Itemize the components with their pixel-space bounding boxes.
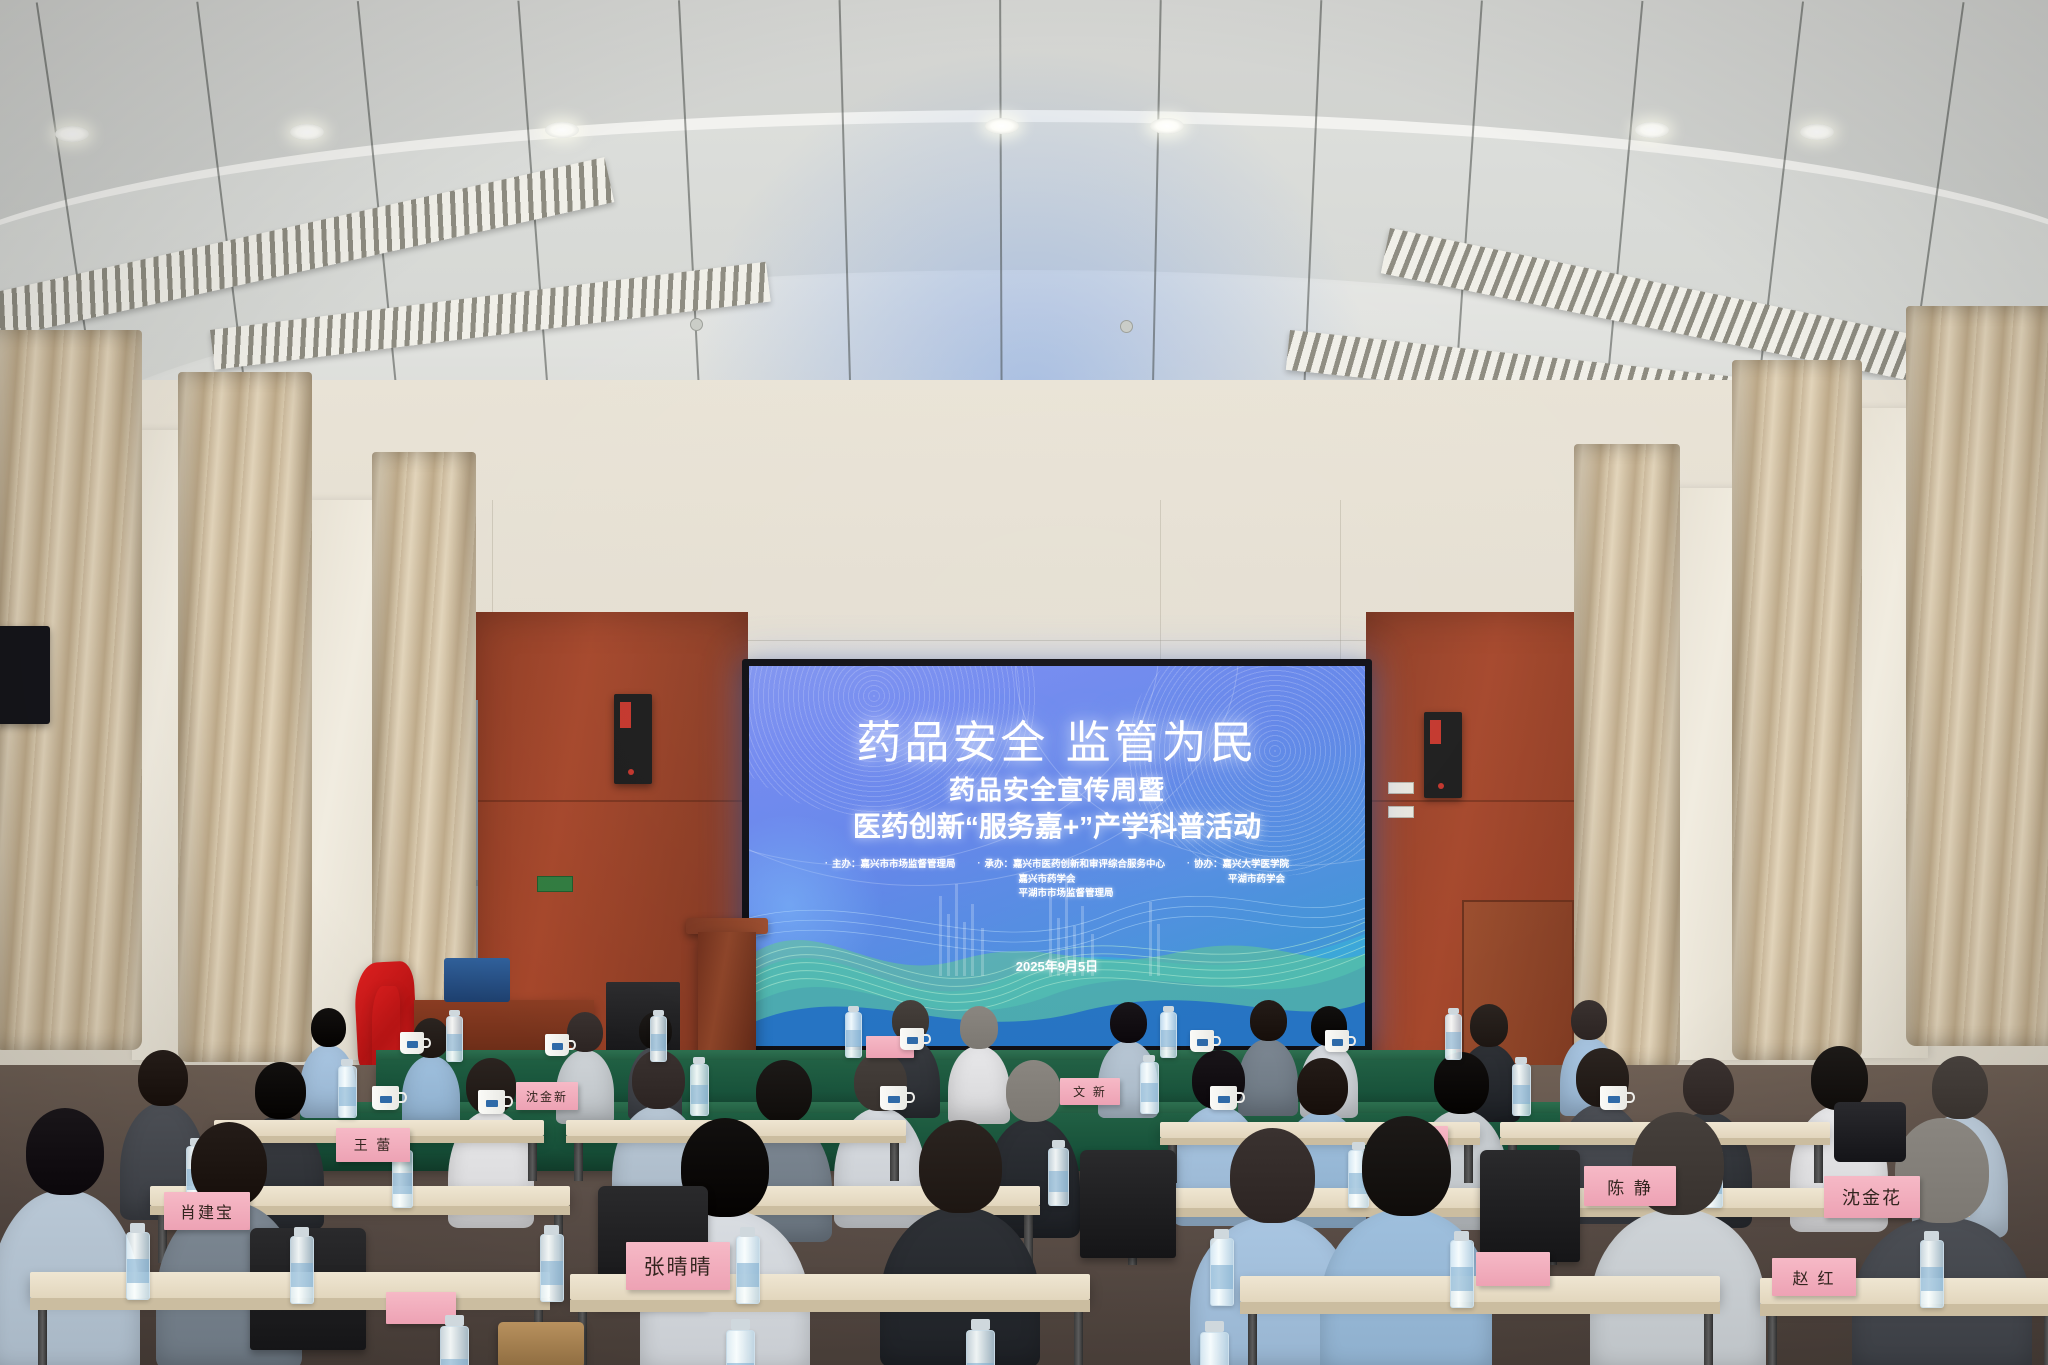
bottle-cap bbox=[445, 1315, 464, 1326]
mug-logo-icon bbox=[1332, 1039, 1343, 1046]
person-head bbox=[1362, 1116, 1451, 1216]
wood-seam-left bbox=[470, 800, 748, 802]
mug-handle bbox=[1213, 1036, 1221, 1046]
bottle-cap bbox=[1163, 1006, 1174, 1012]
mug-logo-icon bbox=[1608, 1096, 1620, 1103]
curtain-right-2 bbox=[1732, 360, 1862, 1060]
bottle-label bbox=[691, 1085, 708, 1104]
bottle-label bbox=[1211, 1265, 1233, 1289]
water-bottle bbox=[726, 1330, 755, 1365]
bottle-cap bbox=[693, 1057, 705, 1064]
person-head bbox=[1683, 1058, 1734, 1115]
organizer-bullet-icon: · bbox=[825, 858, 828, 902]
wall-monitor-left bbox=[0, 626, 50, 724]
name-card-text: 沈金新 bbox=[526, 1088, 568, 1105]
conference-chair bbox=[1080, 1150, 1176, 1258]
bottle-cap bbox=[544, 1225, 559, 1235]
bottle-cap bbox=[1052, 1140, 1065, 1148]
organizer-group-0: ·主办：嘉兴市市场监督管理局 bbox=[825, 858, 956, 902]
bottle-cap bbox=[653, 1010, 664, 1016]
handbag bbox=[498, 1322, 584, 1365]
bottle-label bbox=[441, 1359, 468, 1365]
wall-switch-plate-2 bbox=[1388, 782, 1414, 794]
person-head bbox=[1811, 1046, 1868, 1110]
screen-title: 药品安全 监管为民 bbox=[749, 706, 1365, 771]
person-head bbox=[1110, 1002, 1147, 1043]
bottle-label bbox=[127, 1259, 149, 1283]
organizer-bullet-icon: · bbox=[977, 858, 980, 902]
screen-organizers: ·主办：嘉兴市市场监督管理局·承办：嘉兴市医药创新和审评综合服务中心嘉兴市药学会… bbox=[761, 858, 1353, 902]
table-name-card: 沈金新 bbox=[516, 1082, 578, 1110]
bottle-cap bbox=[1924, 1231, 1939, 1241]
bottle-cap bbox=[1515, 1057, 1527, 1064]
sprinkler-head-icon bbox=[690, 318, 703, 331]
bottle-label bbox=[447, 1034, 462, 1051]
control-desk-monitor bbox=[444, 958, 510, 1002]
table-name-card: 王 蕾 bbox=[336, 1128, 410, 1162]
person-head bbox=[1571, 1000, 1607, 1040]
person-head bbox=[756, 1060, 812, 1123]
bottle-label bbox=[1049, 1171, 1068, 1192]
name-card-text: 肖建宝 bbox=[180, 1199, 234, 1223]
person-head bbox=[919, 1120, 1002, 1213]
organizer-line: 主办：嘉兴市市场监督管理局 bbox=[832, 858, 956, 873]
mug-logo-icon bbox=[1197, 1039, 1208, 1046]
name-card-text: 沈金花 bbox=[1842, 1184, 1902, 1210]
bottle-label bbox=[291, 1263, 313, 1287]
person-head bbox=[26, 1108, 104, 1195]
organizer-line: 协办：嘉兴大学医学院 bbox=[1194, 858, 1289, 873]
bottle-cap bbox=[449, 1010, 460, 1016]
audience-person bbox=[0, 1108, 140, 1365]
table-name-card: 赵 红 bbox=[1772, 1258, 1856, 1296]
bottle-label bbox=[1451, 1267, 1473, 1291]
ceiling-downlight bbox=[290, 124, 324, 140]
mug-handle bbox=[923, 1034, 931, 1044]
bottle-cap bbox=[341, 1059, 353, 1066]
mug-handle bbox=[1626, 1092, 1635, 1103]
person-head bbox=[1932, 1056, 1988, 1119]
bottle-label bbox=[339, 1087, 356, 1106]
curtain-right-1 bbox=[1906, 306, 2048, 1046]
bottle-cap bbox=[294, 1227, 309, 1237]
bottle-cap bbox=[1214, 1229, 1229, 1239]
person-head bbox=[1434, 1052, 1489, 1114]
bottle-cap bbox=[1205, 1321, 1224, 1332]
person-head bbox=[960, 1006, 998, 1049]
led-screen[interactable]: 药品安全 监管为民 药品安全宣传周暨 医药创新“服务嘉+”产学科普活动 ·主办：… bbox=[742, 659, 1372, 1053]
person-head bbox=[311, 1008, 346, 1047]
curtain-left-2 bbox=[178, 372, 312, 1062]
speaker-right bbox=[1424, 712, 1462, 798]
bottle-label bbox=[846, 1030, 861, 1047]
organizer-lines-1: 承办：嘉兴市医药创新和审评综合服务中心嘉兴市药学会平湖市市场监督管理局 bbox=[984, 858, 1165, 902]
organizer-group-2: ·协办：嘉兴大学医学院平湖市药学会 bbox=[1187, 858, 1289, 902]
ceiling-downlight bbox=[55, 126, 89, 142]
bottle-cap bbox=[1454, 1231, 1469, 1241]
ceiling-downlight bbox=[1635, 122, 1669, 138]
curtain-right-3 bbox=[1574, 444, 1680, 1068]
organizer-line: 承办：嘉兴市医药创新和审评综合服务中心 bbox=[984, 858, 1165, 873]
mug-logo-icon bbox=[552, 1043, 563, 1050]
mug-handle bbox=[906, 1092, 915, 1103]
table-name-card: 文 新 bbox=[1060, 1078, 1120, 1105]
table-name-card: 张晴晴 bbox=[626, 1242, 730, 1290]
exit-sign bbox=[537, 876, 573, 892]
mug-logo-icon bbox=[1218, 1096, 1230, 1103]
conference-hall-photo: 药品安全 监管为民 药品安全宣传周暨 医药创新“服务嘉+”产学科普活动 ·主办：… bbox=[0, 0, 2048, 1365]
screen-subtitle-line2: 医药创新“服务嘉+”产学科普活动 bbox=[749, 805, 1365, 845]
wall-switch-plate-4 bbox=[1388, 806, 1414, 818]
organizer-line: 平湖市市场监督管理局 bbox=[984, 887, 1165, 902]
screen-subtitle-line1: 药品安全宣传周暨 bbox=[749, 770, 1365, 807]
ceiling-downlight bbox=[1150, 118, 1184, 134]
audience-person bbox=[880, 1120, 1040, 1365]
bottle-cap bbox=[731, 1319, 750, 1330]
ceiling-downlight bbox=[545, 122, 579, 138]
person-head bbox=[138, 1050, 188, 1106]
bottle-cap bbox=[1143, 1055, 1155, 1062]
bottle-label bbox=[541, 1261, 563, 1285]
name-card-text: 文 新 bbox=[1073, 1083, 1107, 1100]
desk-leg bbox=[528, 1143, 537, 1181]
mug-handle bbox=[504, 1096, 513, 1107]
bottle-cap bbox=[130, 1223, 145, 1233]
bottle-cap bbox=[740, 1227, 755, 1237]
table-name-card: 陈 静 bbox=[1584, 1166, 1676, 1206]
bottle-cap bbox=[848, 1006, 859, 1012]
table-name-card: 沈金花 bbox=[1824, 1176, 1920, 1218]
screen-date: 2025年9月5日 bbox=[749, 956, 1365, 975]
bottle-label bbox=[1161, 1030, 1176, 1047]
led-screen-content: 药品安全 监管为民 药品安全宣传周暨 医药创新“服务嘉+”产学科普活动 ·主办：… bbox=[749, 666, 1365, 1046]
conference-chair bbox=[1480, 1150, 1580, 1262]
name-card-text: 王 蕾 bbox=[354, 1135, 392, 1155]
person-head bbox=[1297, 1058, 1348, 1115]
ceiling-downlight bbox=[1800, 124, 1834, 140]
audience-person bbox=[1590, 1112, 1766, 1365]
ceiling-downlight bbox=[985, 118, 1019, 134]
desk-leg bbox=[1248, 1314, 1257, 1365]
mug-handle bbox=[423, 1038, 431, 1048]
mug-handle bbox=[568, 1040, 576, 1050]
organizer-line: 嘉兴市药学会 bbox=[984, 873, 1165, 888]
bottle-label bbox=[393, 1173, 412, 1194]
name-card-text: 张晴晴 bbox=[644, 1251, 713, 1281]
desk-leg bbox=[1074, 1312, 1083, 1365]
bottle-cap bbox=[1448, 1008, 1459, 1014]
speaker-left bbox=[614, 694, 652, 784]
bottle-label bbox=[1513, 1085, 1530, 1104]
mug-handle bbox=[1236, 1092, 1245, 1103]
organizer-bullet-icon: · bbox=[1187, 858, 1190, 902]
desk-edge bbox=[570, 1300, 1090, 1312]
desk-leg bbox=[38, 1310, 47, 1365]
mug-logo-icon bbox=[380, 1096, 392, 1103]
person-head bbox=[1230, 1128, 1315, 1223]
desk-edge bbox=[1240, 1302, 1720, 1314]
mug-handle bbox=[398, 1092, 407, 1103]
table-name-card: 肖建宝 bbox=[164, 1192, 250, 1230]
organizer-group-1: ·承办：嘉兴市医药创新和审评综合服务中心嘉兴市药学会平湖市市场监督管理局 bbox=[977, 858, 1165, 902]
bottle-label bbox=[737, 1263, 759, 1287]
name-card-text: 陈 静 bbox=[1607, 1174, 1652, 1199]
person-head bbox=[255, 1062, 306, 1119]
bottle-label bbox=[1446, 1032, 1461, 1049]
bottle-label bbox=[1921, 1267, 1943, 1291]
desk-leg bbox=[1768, 1316, 1777, 1365]
water-bottle bbox=[1200, 1332, 1229, 1365]
sprinkler-head-icon bbox=[1120, 320, 1133, 333]
mug-handle bbox=[1348, 1036, 1356, 1046]
mug-logo-icon bbox=[407, 1041, 418, 1048]
mug-logo-icon bbox=[907, 1037, 918, 1044]
desk-edge bbox=[1760, 1304, 2048, 1316]
bottle-label bbox=[651, 1034, 666, 1051]
person-head bbox=[1250, 1000, 1287, 1041]
black-handbag bbox=[1834, 1102, 1906, 1162]
mug-logo-icon bbox=[486, 1100, 498, 1107]
mug-logo-icon bbox=[888, 1096, 900, 1103]
desk-leg bbox=[2044, 1316, 2048, 1365]
person-head bbox=[1006, 1060, 1061, 1122]
organizer-lines-0: 主办：嘉兴市市场监督管理局 bbox=[832, 858, 956, 902]
organizer-lines-2: 协办：嘉兴大学医学院平湖市药学会 bbox=[1194, 858, 1289, 902]
bottle-label bbox=[1141, 1083, 1158, 1102]
podium bbox=[698, 932, 756, 1056]
person-head bbox=[1470, 1004, 1508, 1047]
desk-leg bbox=[574, 1143, 583, 1181]
bottle-cap bbox=[971, 1319, 990, 1330]
table-name-card bbox=[1476, 1252, 1550, 1286]
desk-leg bbox=[1814, 1145, 1823, 1183]
desk-leg bbox=[1704, 1314, 1713, 1365]
water-bottle bbox=[966, 1330, 995, 1365]
name-card-text: 赵 红 bbox=[1792, 1265, 1835, 1289]
organizer-line: 平湖市药学会 bbox=[1194, 873, 1289, 888]
